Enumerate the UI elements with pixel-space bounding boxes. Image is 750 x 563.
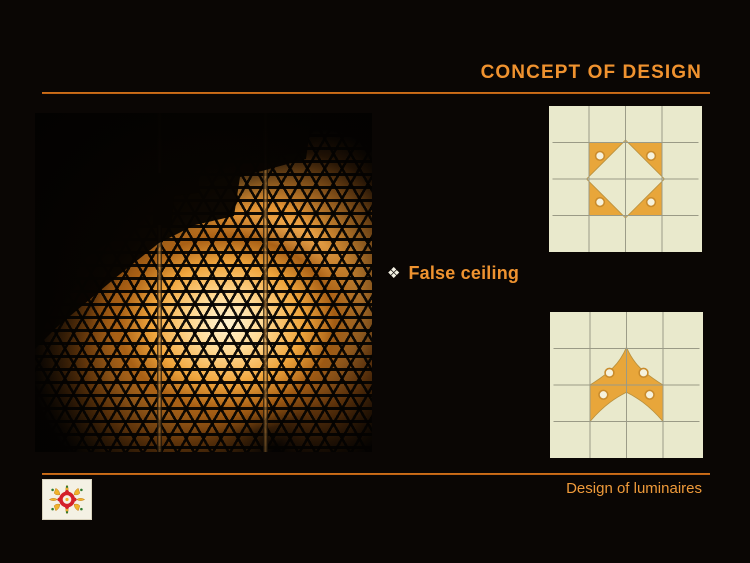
- bullet-item-false-ceiling: ❖ False ceiling: [387, 263, 519, 284]
- footer-caption: Design of luminaires: [566, 480, 702, 497]
- presentation-slide: CONCEPT OF DESIGN ❖ False ceiling: [0, 0, 750, 563]
- decorative-tile-logo: [42, 479, 92, 520]
- diagram-luminaire-arch: [550, 312, 703, 458]
- header-divider: [42, 92, 710, 94]
- bullet-item-label: False ceiling: [408, 263, 519, 284]
- page-title: CONCEPT OF DESIGN: [481, 62, 702, 84]
- diamond-bullet-icon: ❖: [387, 266, 400, 281]
- photo-backlit-screen: [35, 113, 372, 452]
- photo-vignette: [35, 113, 372, 452]
- footer-divider: [42, 473, 710, 475]
- diagram-false-ceiling-plan: [549, 106, 702, 252]
